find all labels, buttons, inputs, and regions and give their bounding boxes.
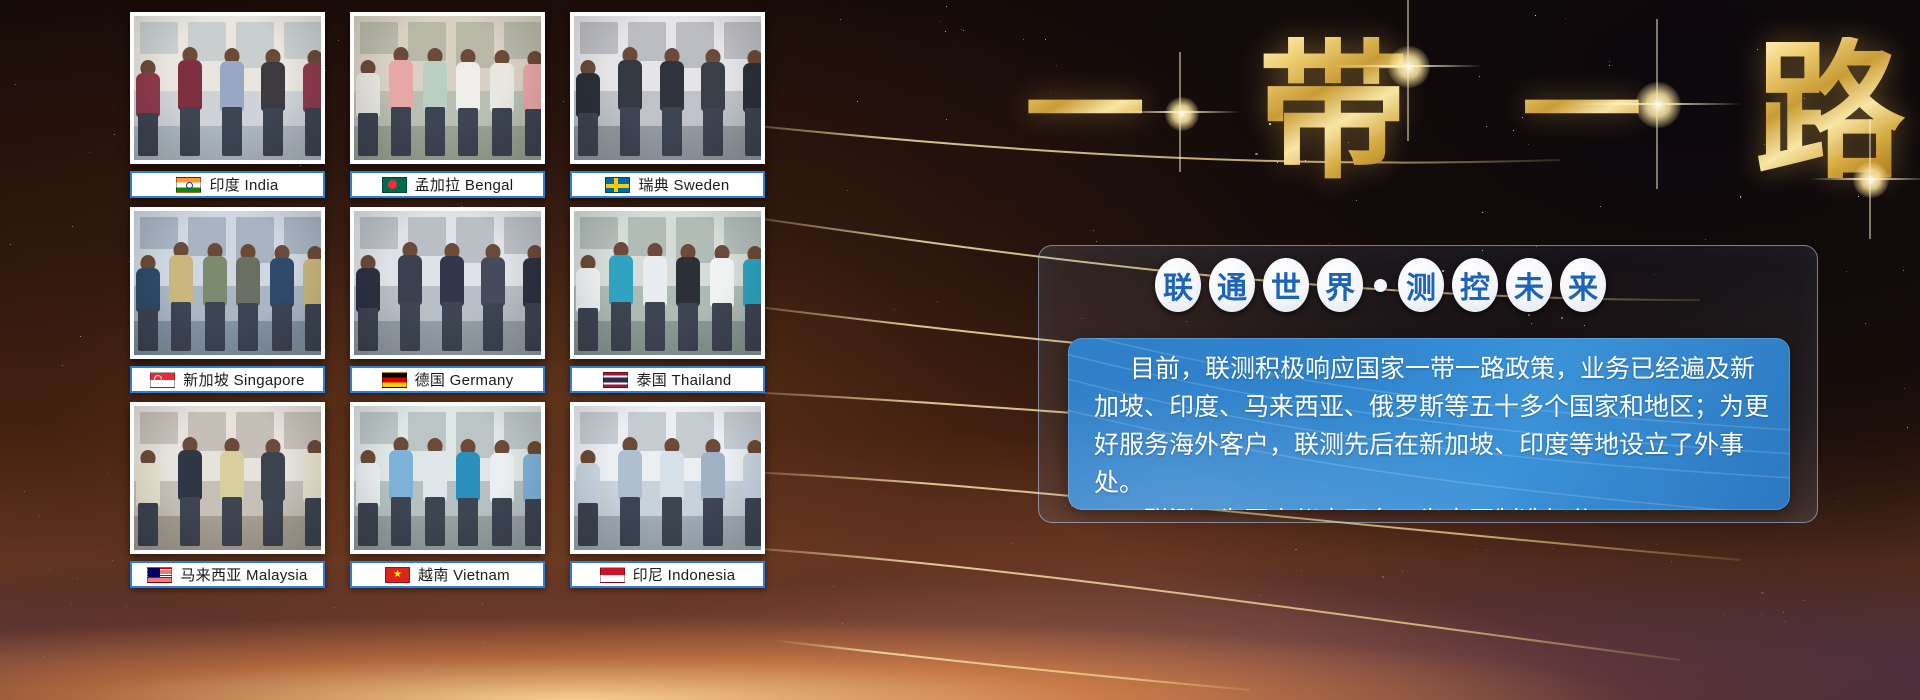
delegation-photo-bengal [350,12,545,164]
delegation-photo-singapore [130,207,325,359]
sparkle-glow-icon [1853,162,1889,198]
sg-flag-icon [150,372,175,388]
id-flag-icon [600,567,625,583]
vn-flag-icon [385,567,410,583]
slogan-char-badge: 通 [1209,258,1255,312]
country-label: 孟加拉 Bengal [350,171,545,198]
country-label-text: 马来西亚 Malaysia [180,564,307,585]
sparkle-glow-icon [1165,97,1199,131]
country-card[interactable]: 印尼 Indonesia [570,402,765,593]
country-card[interactable]: 泰国 Thailand [570,207,765,398]
country-label: 瑞典 Sweden [570,171,765,198]
slogan-char-badge: 联 [1155,258,1201,312]
country-label: 印尼 Indonesia [570,561,765,588]
slogan-char-badge: 来 [1560,258,1606,312]
country-label-text: 瑞典 Sweden [638,174,729,195]
country-photo-grid: 印度 India孟加拉 Bengal瑞典 Sweden新加坡 Singapore… [130,12,765,593]
country-label: 印度 India [130,171,325,198]
country-card[interactable]: 瑞典 Sweden [570,12,765,203]
country-label: 马来西亚 Malaysia [130,561,325,588]
slogan-char-badge: 控 [1452,258,1498,312]
sparkle-glow-icon [1635,82,1681,128]
slogan-char-badge: 界 [1317,258,1363,312]
headline-belt-and-road: 一 带 一 路 [1025,4,1905,219]
country-card[interactable]: 德国 Germany [350,207,545,398]
country-label-text: 孟加拉 Bengal [415,174,514,195]
country-label-text: 新加坡 Singapore [183,369,304,390]
country-card[interactable]: 马来西亚 Malaysia [130,402,325,593]
se-flag-icon [605,177,630,193]
slogan-char-badge: 测 [1398,258,1444,312]
about-text-box: 目前，联测积极响应国家一带一路政策，业务已经遍及新加坡、印度、马来西亚、俄罗斯等… [1068,338,1790,510]
country-label-text: 德国 Germany [415,369,514,390]
country-label-text: 泰国 Thailand [636,369,731,390]
slogan-row: 联通世界测控未来 [1155,258,1606,312]
headline-char-2: 带 [1258,37,1408,187]
de-flag-icon [382,372,407,388]
about-paragraph: 目前，联测积极响应国家一带一路政策，业务已经遍及新加坡、印度、马来西亚、俄罗斯等… [1094,350,1770,510]
delegation-photo-malaysia [130,402,325,554]
slogan-char-badge: 世 [1263,258,1309,312]
country-card[interactable]: 孟加拉 Bengal [350,12,545,203]
country-card[interactable]: 新加坡 Singapore [130,207,325,398]
delegation-photo-india [130,12,325,164]
my-flag-icon [147,567,172,583]
delegation-photo-thailand [570,207,765,359]
in-flag-icon [176,177,201,193]
country-label-text: 印尼 Indonesia [633,564,736,585]
headline-char-4: 路 [1755,37,1905,187]
country-card[interactable]: 越南 Vietnam [350,402,545,593]
banner-canvas: 印度 India孟加拉 Bengal瑞典 Sweden新加坡 Singapore… [0,0,1920,700]
country-label-text: 越南 Vietnam [418,564,510,585]
sparkle-glow-icon [1388,46,1430,88]
country-label: 德国 Germany [350,366,545,393]
bd-flag-icon [382,177,407,193]
headline-char-1: 一 [1025,52,1145,172]
country-label: 新加坡 Singapore [130,366,325,393]
slogan-char-badge: 未 [1506,258,1552,312]
delegation-photo-indonesia [570,402,765,554]
country-label: 泰国 Thailand [570,366,765,393]
country-label-text: 印度 India [209,174,278,195]
th-flag-icon [603,372,628,388]
delegation-photo-germany [350,207,545,359]
headline-char-3: 一 [1522,52,1642,172]
delegation-photo-sweden [570,12,765,164]
delegation-photo-vietnam [350,402,545,554]
country-card[interactable]: 印度 India [130,12,325,203]
slogan-separator-dot [1374,279,1387,292]
country-label: 越南 Vietnam [350,561,545,588]
